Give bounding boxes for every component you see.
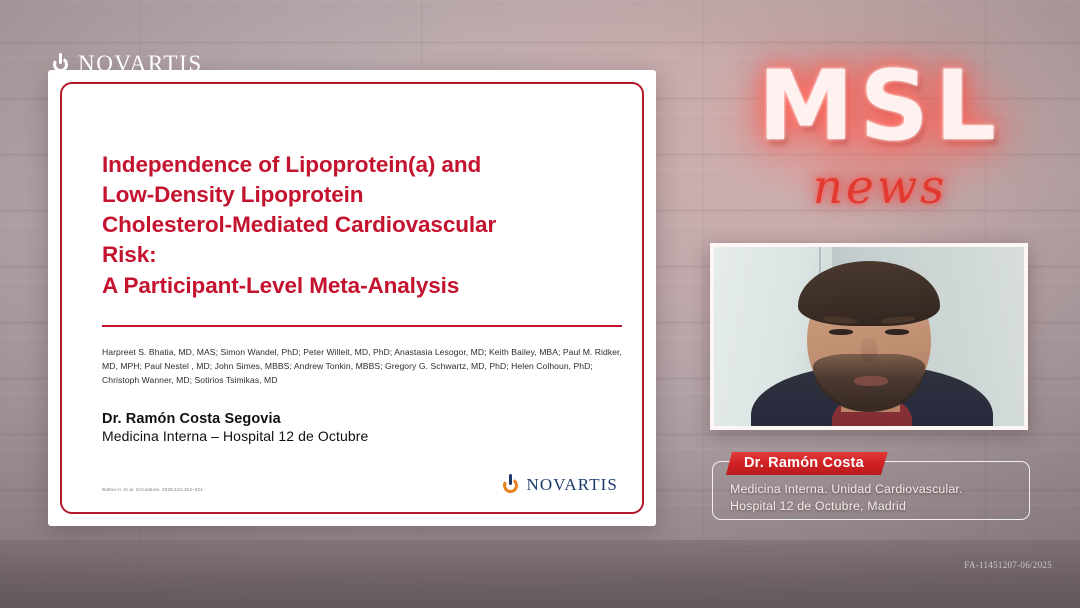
slide-content: Independence of Lipoprotein(a) and Low-D…	[102, 150, 622, 500]
slide-novartis-logo: NOVARTIS	[502, 474, 618, 496]
lower-third-line-1: Medicina Interna. Unidad Cardiovascular.	[730, 482, 963, 496]
slide-citation: Bathia H, et al. Circulation. 2025;151:3…	[102, 487, 203, 492]
legal-reference-code: FA-11451207-06/2025	[964, 560, 1052, 570]
msl-logo-text: MSL	[706, 50, 1054, 162]
bottom-bar	[0, 540, 1080, 608]
presenter-affiliation: Medicina Interna – Hospital 12 de Octubr…	[102, 428, 622, 444]
novartis-flame-icon	[502, 474, 519, 496]
presenter-name: Dr. Ramón Costa Segovia	[102, 411, 622, 427]
presenter-block: Dr. Ramón Costa Segovia Medicina Interna…	[102, 411, 622, 444]
news-script-text: news	[706, 160, 1054, 215]
lower-third-name: Dr. Ramón Costa	[726, 452, 888, 475]
bottom-novartis-wordmark: NOVARTIS	[78, 51, 203, 77]
presentation-slide[interactable]: Independence of Lipoprotein(a) and Low-D…	[48, 70, 656, 526]
novartis-flame-icon	[52, 53, 69, 75]
speaker-eye-left	[829, 329, 854, 335]
lower-third-line-2: Hospital 12 de Octubre, Madrid	[730, 499, 906, 513]
video-stage: MSL news Independence of Lipoprotein(a) …	[0, 0, 1080, 608]
speaker-video-frame	[714, 247, 1024, 426]
bottom-novartis-logo: NOVARTIS	[52, 51, 203, 77]
title-divider-rule	[102, 325, 622, 327]
author-list: Harpreet S. Bhatia, MD, MAS; Simon Wande…	[102, 346, 622, 388]
speaker-eye-right	[885, 329, 910, 335]
slide-novartis-wordmark: NOVARTIS	[526, 475, 618, 495]
slide-title: Independence of Lipoprotein(a) and Low-D…	[102, 150, 622, 301]
speaker-mouth	[854, 376, 888, 386]
lower-third-nameplate: Dr. Ramón Costa Medicina Interna. Unidad…	[712, 452, 1030, 520]
neon-glow	[682, 40, 1078, 234]
msl-news-logo: MSL news	[706, 56, 1054, 218]
speaker-video-panel[interactable]	[710, 243, 1028, 430]
